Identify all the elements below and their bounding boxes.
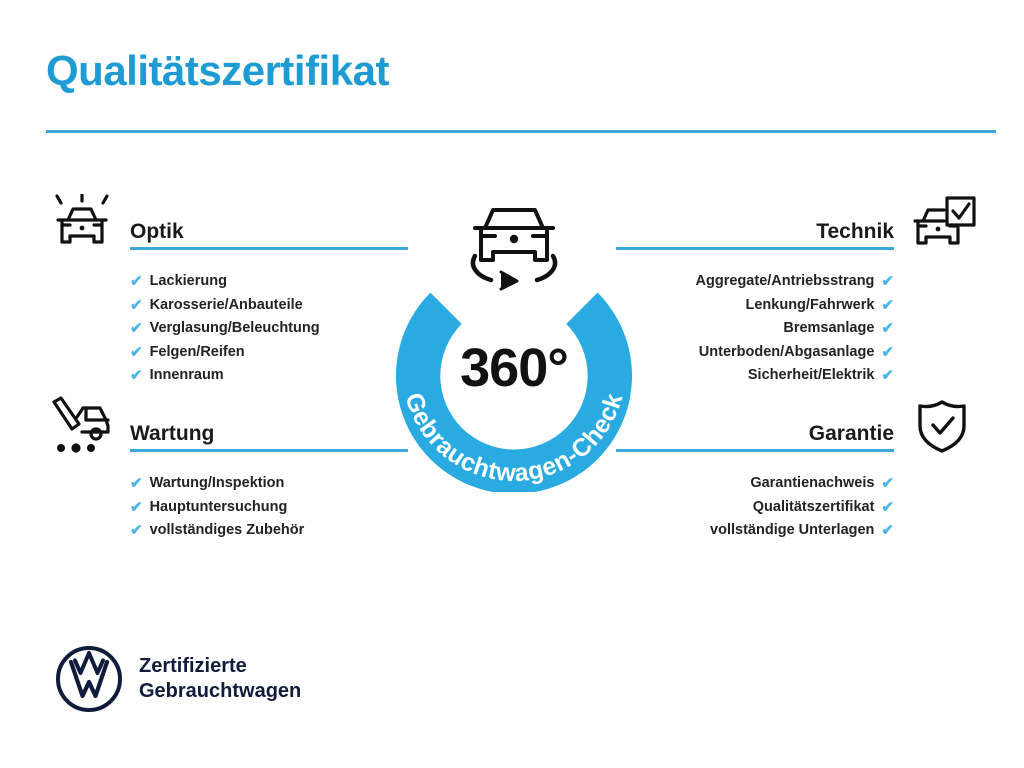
section-optik-title: Optik bbox=[130, 220, 184, 244]
car-service-pen-icon bbox=[46, 396, 118, 456]
section-wartung-divider bbox=[130, 449, 408, 452]
check-icon: ✔ bbox=[881, 321, 894, 336]
check-icon: ✔ bbox=[130, 345, 143, 360]
list-item: ✔vollständiges Zubehör bbox=[130, 519, 446, 543]
check-icon: ✔ bbox=[881, 368, 894, 383]
check-icon: ✔ bbox=[130, 321, 143, 336]
check-icon: ✔ bbox=[881, 345, 894, 360]
list-item-label: Unterboden/Abgasanlage bbox=[699, 341, 875, 365]
check-icon: ✔ bbox=[130, 298, 143, 313]
page-title: Qualitätszertifikat bbox=[46, 50, 389, 92]
list-item-label: Garantienachweis bbox=[750, 472, 874, 496]
list-item-label: Lenkung/Fahrwerk bbox=[746, 294, 875, 318]
car-front-rotate-icon bbox=[455, 192, 573, 292]
section-wartung-title: Wartung bbox=[130, 422, 214, 446]
list-item-label: Qualitätszertifikat bbox=[753, 496, 875, 520]
check-icon: ✔ bbox=[881, 500, 894, 515]
vw-logo-icon bbox=[55, 645, 123, 713]
list-item: ✔Hauptuntersuchung bbox=[130, 496, 446, 520]
check-icon: ✔ bbox=[130, 274, 143, 289]
list-item-label: Felgen/Reifen bbox=[150, 341, 245, 365]
footer-text: Zertifizierte Gebrauchtwagen bbox=[139, 654, 301, 704]
list-item-label: vollständige Unterlagen bbox=[710, 519, 874, 543]
list-item: vollständige Unterlagen✔ bbox=[578, 519, 894, 543]
list-item-label: Hauptuntersuchung bbox=[150, 496, 288, 520]
badge-360-label: 360° bbox=[370, 337, 658, 399]
list-item-label: Wartung/Inspektion bbox=[150, 472, 285, 496]
vw-certified-logo: Zertifizierte Gebrauchtwagen bbox=[55, 645, 301, 713]
car-checkbox-icon bbox=[906, 194, 978, 254]
shield-check-icon bbox=[906, 396, 978, 456]
list-item-label: Aggregate/Antriebsstrang bbox=[696, 270, 875, 294]
list-item-label: Karosserie/Anbauteile bbox=[150, 294, 303, 318]
footer-line-2: Gebrauchtwagen bbox=[139, 679, 301, 704]
check-icon: ✔ bbox=[130, 523, 143, 538]
title-divider bbox=[46, 130, 996, 133]
list-item-label: Verglasung/Beleuchtung bbox=[150, 317, 320, 341]
list-item-label: Sicherheit/Elektrik bbox=[748, 364, 875, 388]
footer-line-1: Zertifizierte bbox=[139, 654, 301, 679]
check-icon: ✔ bbox=[881, 298, 894, 313]
list-item-label: Lackierung bbox=[150, 270, 227, 294]
list-item: Qualitätszertifikat✔ bbox=[578, 496, 894, 520]
check-icon: ✔ bbox=[130, 500, 143, 515]
list-item-label: Innenraum bbox=[150, 364, 224, 388]
car-shine-icon bbox=[46, 194, 118, 254]
section-garantie-title: Garantie bbox=[809, 422, 894, 446]
badge-360-gebrauchtwagen-check: Gebrauchtwagen-Check 360° bbox=[370, 192, 658, 492]
check-icon: ✔ bbox=[130, 476, 143, 491]
check-icon: ✔ bbox=[881, 523, 894, 538]
check-icon: ✔ bbox=[881, 274, 894, 289]
list-item-label: vollständiges Zubehör bbox=[150, 519, 305, 543]
list-item-label: Bremsanlage bbox=[783, 317, 874, 341]
check-icon: ✔ bbox=[881, 476, 894, 491]
check-icon: ✔ bbox=[130, 368, 143, 383]
section-technik-title: Technik bbox=[816, 220, 894, 244]
section-optik-divider bbox=[130, 247, 408, 250]
